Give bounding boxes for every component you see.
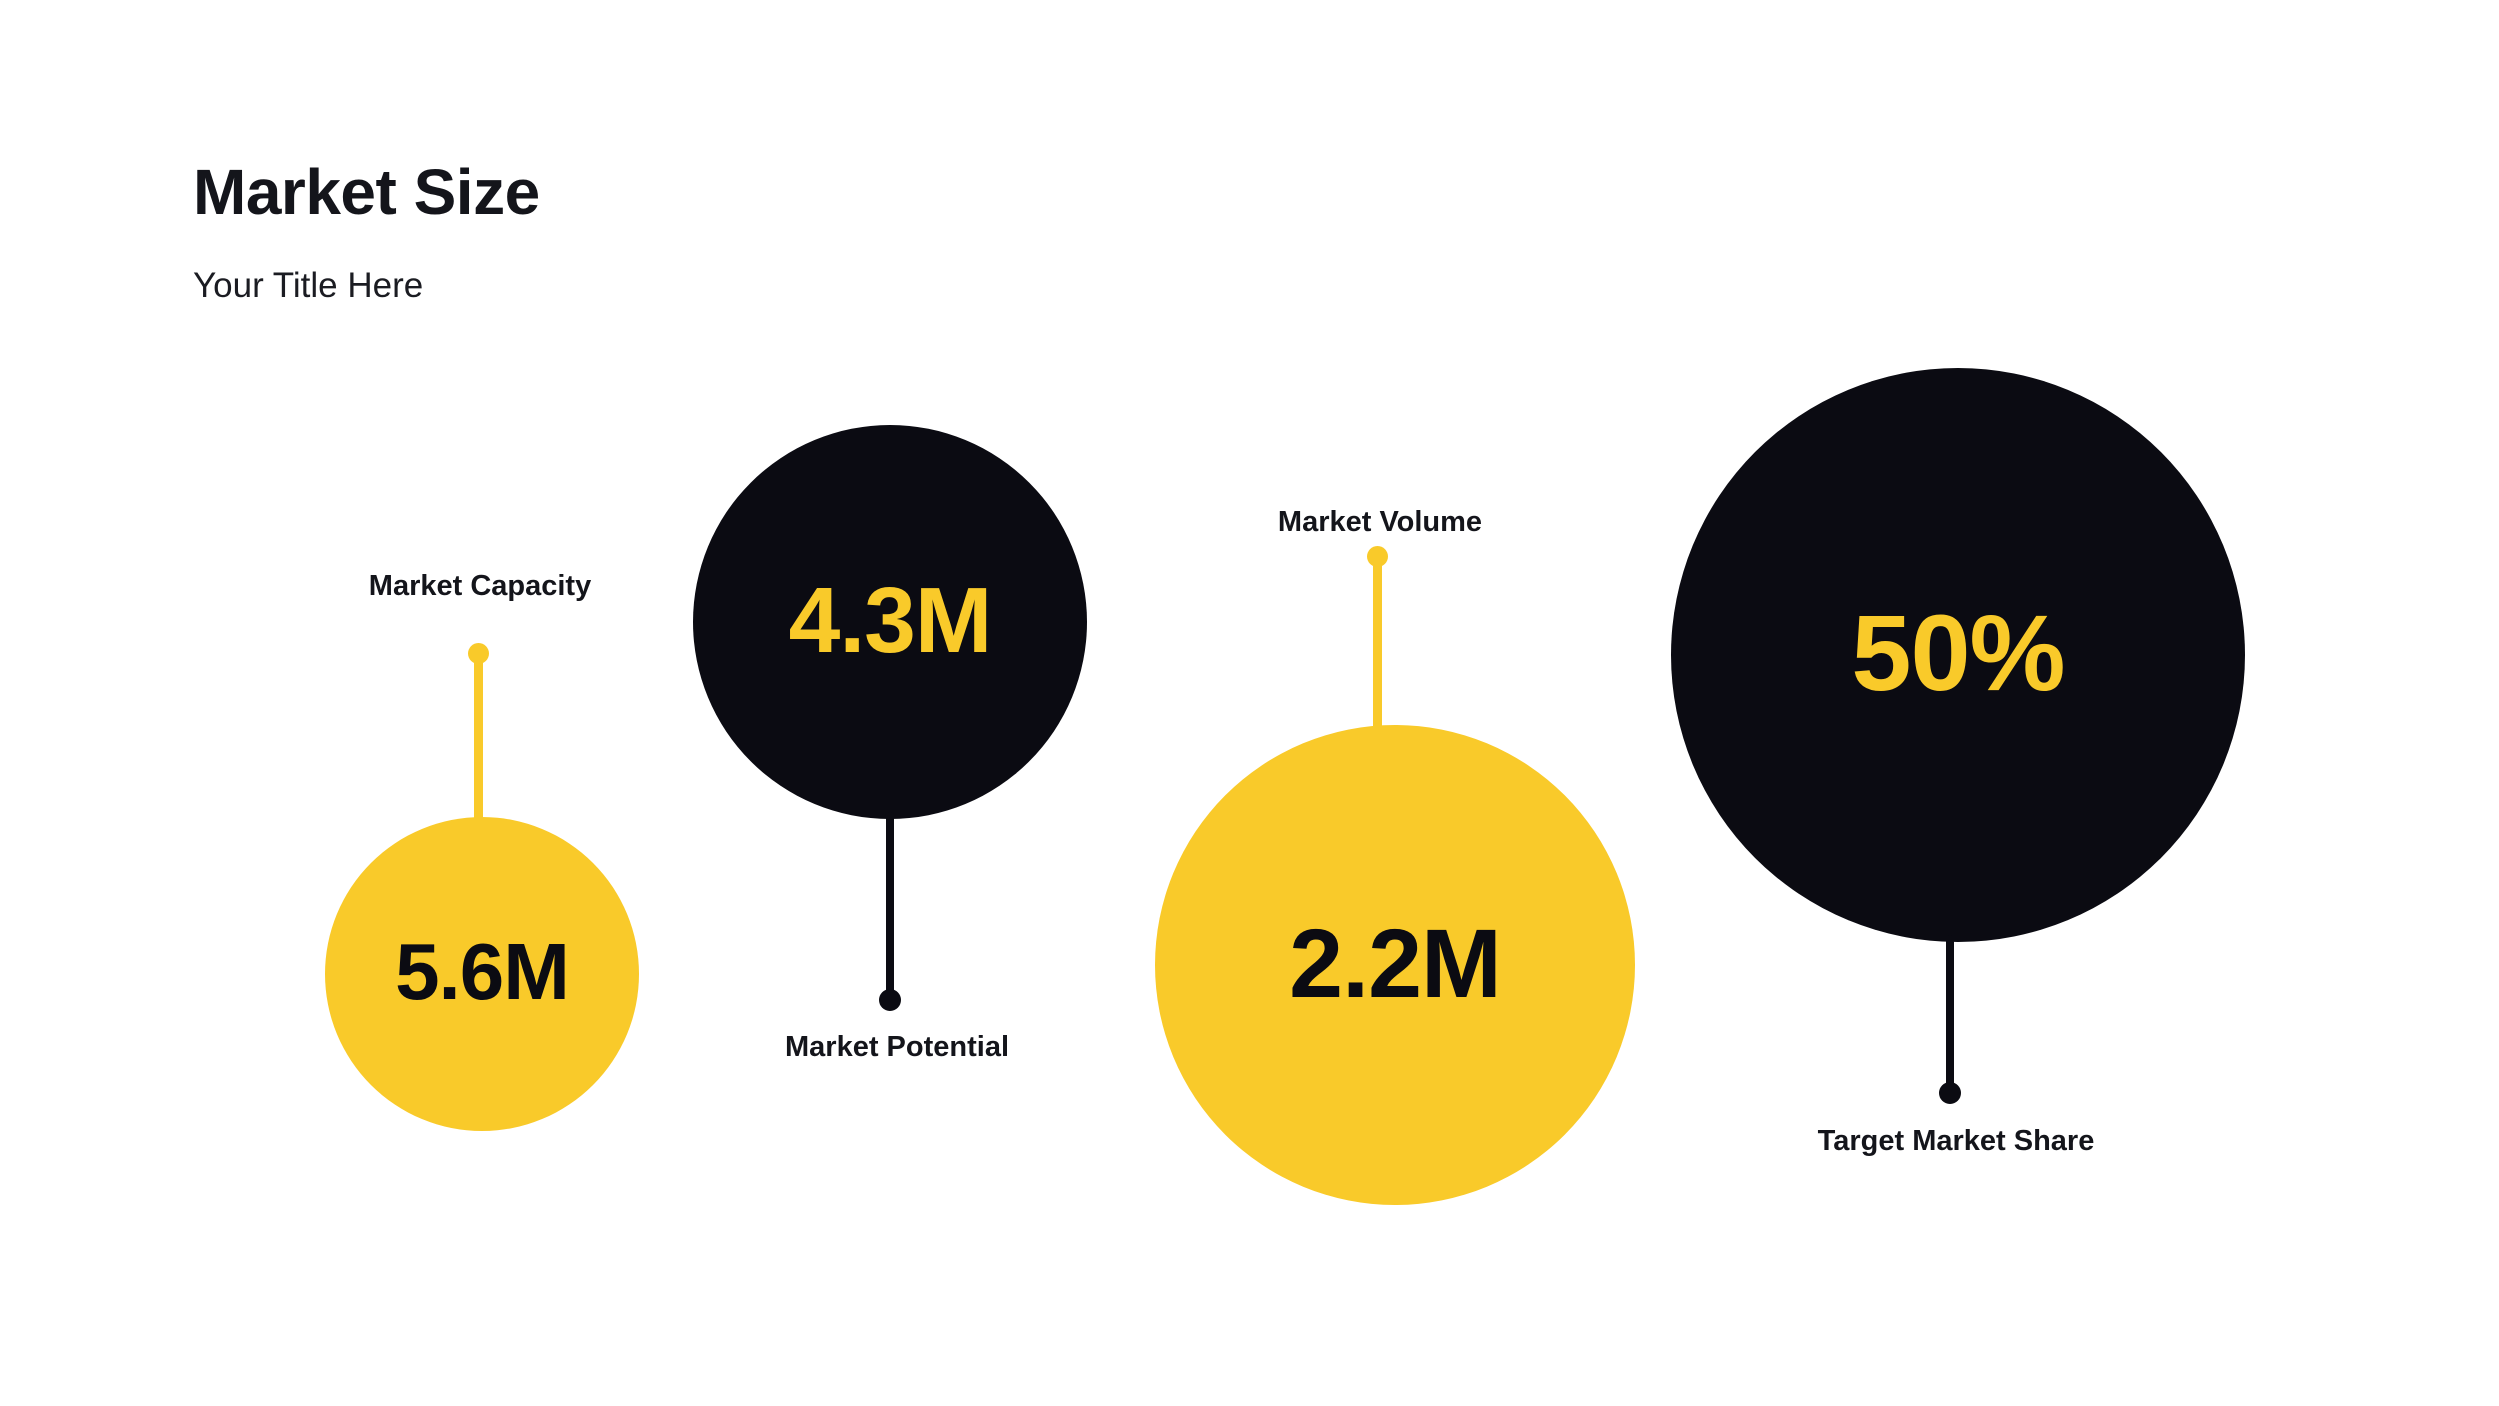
stem-line-market-capacity bbox=[474, 652, 483, 824]
stem-dot-market-potential bbox=[879, 989, 901, 1011]
bubble-market-potential[interactable]: 4.3M bbox=[693, 425, 1087, 819]
balloon-label-target-market-share: Target Market Share bbox=[1806, 1127, 2106, 1156]
balloon-label-market-volume: Market Volume bbox=[1230, 508, 1530, 537]
bubble-value-market-potential: 4.3M bbox=[789, 574, 992, 667]
bubble-target-market-share[interactable]: 50% bbox=[1671, 368, 2245, 942]
balloon-label-market-capacity: Market Capacity bbox=[330, 572, 630, 601]
page-subtitle: Your Title Here bbox=[193, 268, 1393, 303]
balloon-label-market-potential: Market Potential bbox=[747, 1033, 1047, 1062]
bubble-market-capacity[interactable]: 5.6M bbox=[325, 817, 639, 1131]
stem-line-market-potential bbox=[886, 812, 894, 1002]
page-title: Market Size bbox=[193, 160, 1393, 224]
bubble-value-market-capacity: 5.6M bbox=[395, 932, 569, 1012]
stem-line-target-market-share bbox=[1946, 935, 1954, 1093]
stem-line-market-volume bbox=[1373, 555, 1382, 735]
stem-dot-target-market-share bbox=[1939, 1082, 1961, 1104]
bubble-value-target-market-share: 50% bbox=[1851, 599, 2064, 707]
bubble-market-volume[interactable]: 2.2M bbox=[1155, 725, 1635, 1205]
slide-canvas: Market Size Your Title Here Market Capac… bbox=[0, 0, 2499, 1406]
slide-header: Market Size Your Title Here bbox=[193, 160, 1393, 303]
bubble-value-market-volume: 2.2M bbox=[1289, 915, 1501, 1012]
